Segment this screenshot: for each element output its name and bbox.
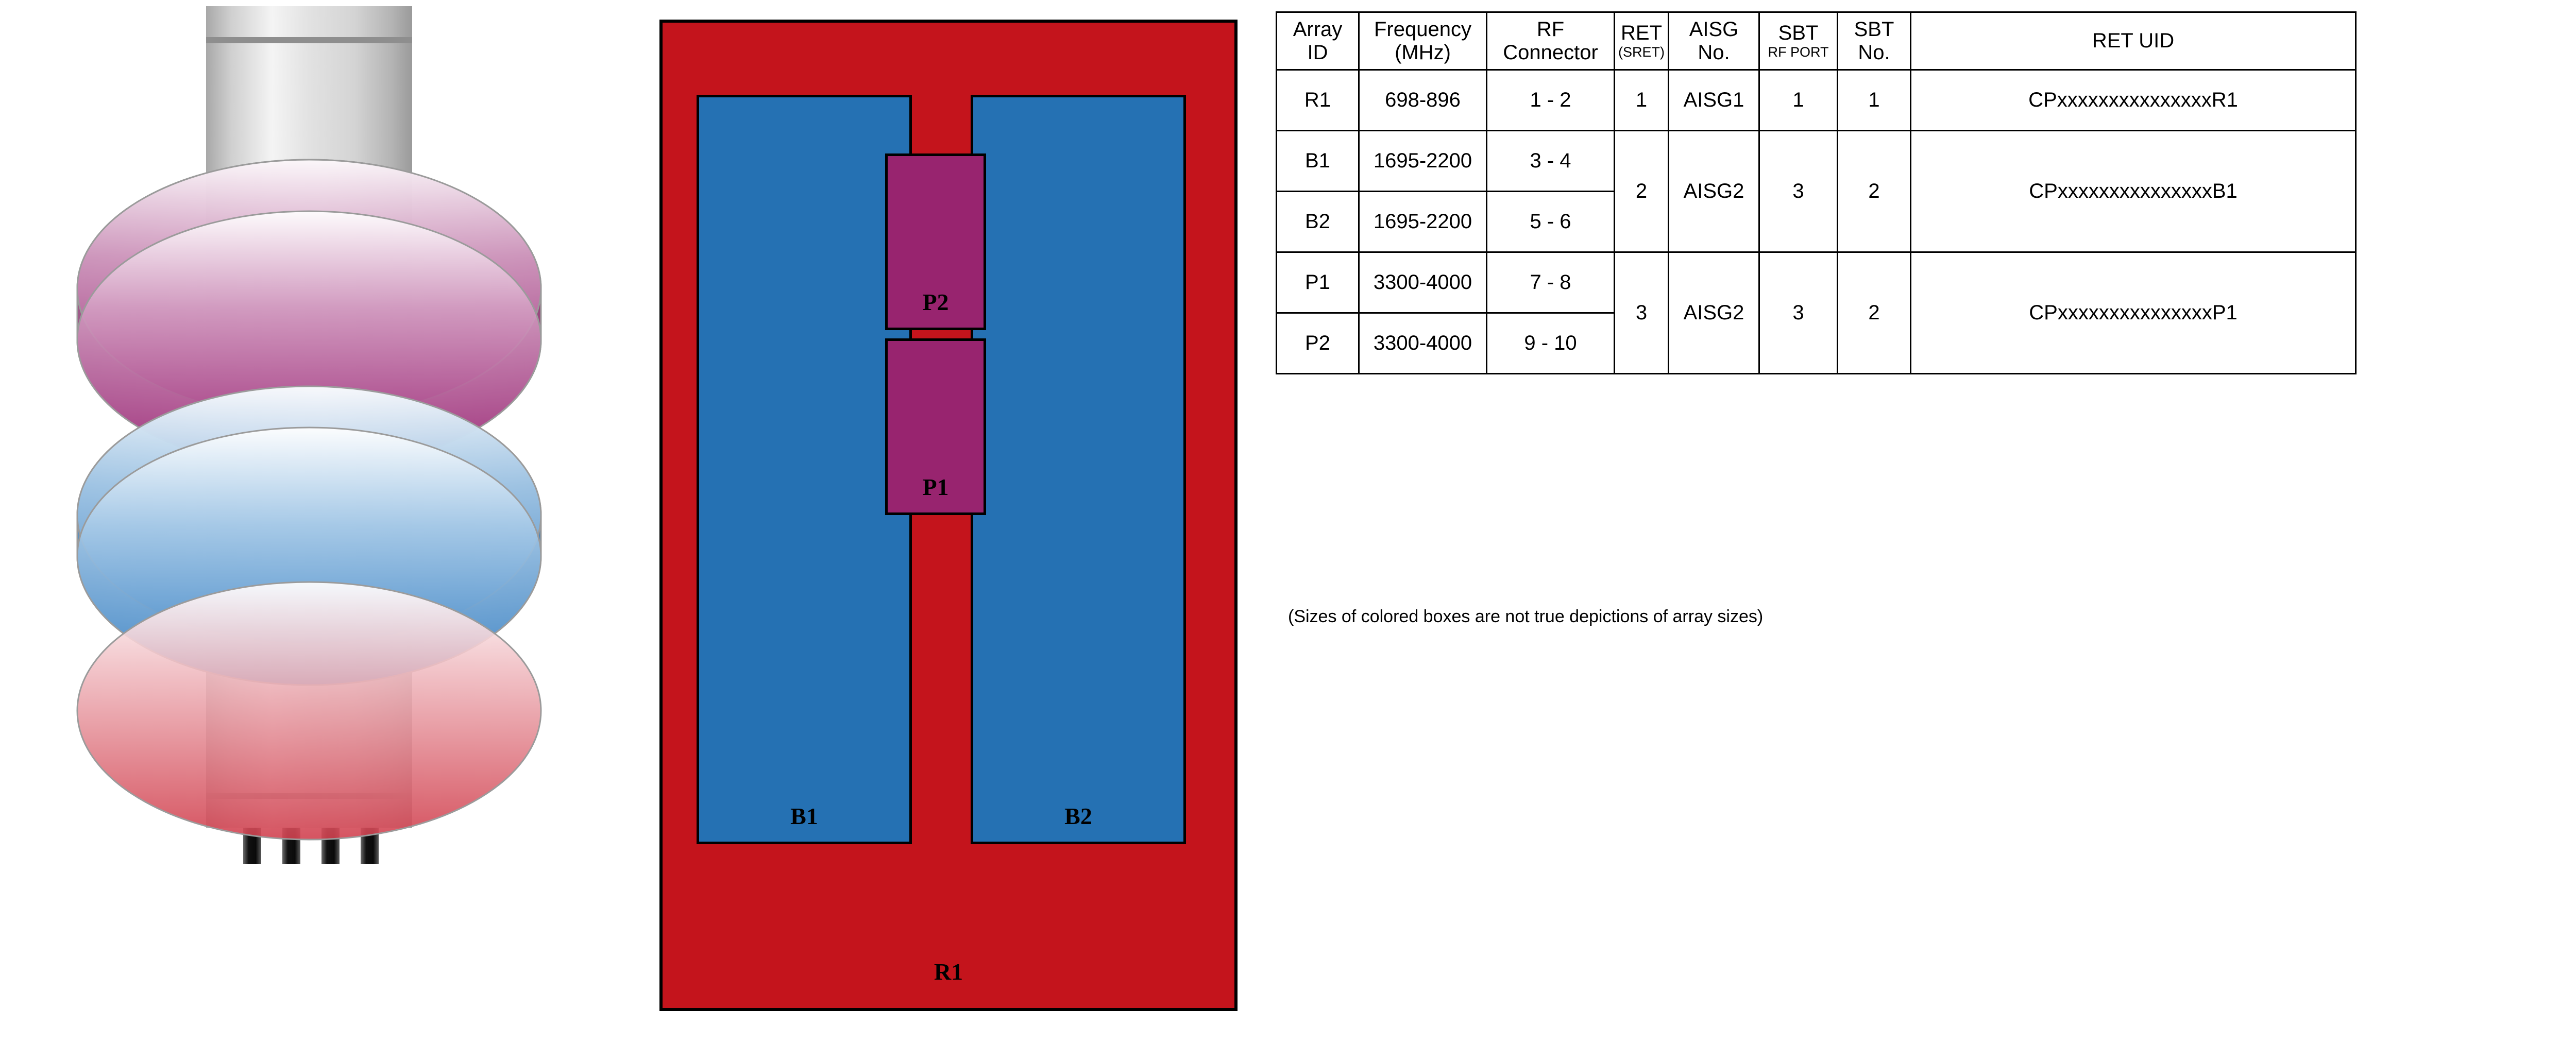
column-header-rf-connector-line1: RF bbox=[1490, 18, 1611, 41]
column-header-rf-connector: RF Connector bbox=[1487, 12, 1615, 70]
cell-sbt-no: 1 bbox=[1838, 70, 1911, 131]
column-header-sbt-rf-port: SBT RF PORT bbox=[1759, 12, 1838, 70]
array-box-label-p2: P2 bbox=[922, 290, 948, 328]
array-box-b1: B1 bbox=[697, 95, 912, 844]
cell-sbt-rf-port: 3 bbox=[1759, 252, 1838, 374]
cell-ret-uid: CPxxxxxxxxxxxxxxxR1 bbox=[1911, 70, 2356, 131]
array-box-label-b1: B1 bbox=[790, 805, 818, 842]
column-header-sbt-port-line1: SBT bbox=[1763, 22, 1834, 45]
cell-sbt-no: 2 bbox=[1838, 252, 1911, 374]
cell-rf-connector: 5 - 6 bbox=[1487, 192, 1615, 252]
array-layout-diagram: B1 B2 P2 P1 R1 bbox=[659, 20, 1238, 1011]
column-header-frequency-line1: Frequency bbox=[1363, 18, 1483, 41]
column-header-sbt-port-line2: RF PORT bbox=[1763, 44, 1834, 60]
column-header-sbt-no: SBT No. bbox=[1838, 12, 1911, 70]
cell-rf-connector: 1 - 2 bbox=[1487, 70, 1615, 131]
column-header-array-id: Array ID bbox=[1277, 12, 1359, 70]
column-header-ret: RET (SRET) bbox=[1615, 12, 1669, 70]
table-header-row: Array ID Frequency (MHz) RF Connector RE… bbox=[1277, 12, 2356, 70]
column-header-aisg-line2: No. bbox=[1672, 41, 1755, 64]
array-box-label-b2: B2 bbox=[1064, 805, 1092, 842]
cell-array-id: B2 bbox=[1277, 192, 1359, 252]
column-header-ret-uid-text: RET UID bbox=[1914, 29, 2352, 53]
column-header-array-id-text: Array ID bbox=[1280, 18, 1355, 64]
cell-ret-uid: CPxxxxxxxxxxxxxxxB1 bbox=[1911, 131, 2356, 252]
array-config-table: Array ID Frequency (MHz) RF Connector RE… bbox=[1276, 11, 2357, 374]
array-box-p1: P1 bbox=[885, 338, 986, 515]
cell-sbt-no: 2 bbox=[1838, 131, 1911, 252]
cell-rf-connector: 9 - 10 bbox=[1487, 313, 1615, 374]
table-row: P1 3300-4000 7 - 8 3 AISG2 3 2 CPxxxxxxx… bbox=[1277, 252, 2356, 313]
column-header-frequency: Frequency (MHz) bbox=[1359, 12, 1487, 70]
cell-array-id: P2 bbox=[1277, 313, 1359, 374]
cell-array-id: B1 bbox=[1277, 131, 1359, 192]
low-band-lobe bbox=[77, 582, 541, 840]
cell-array-id: P1 bbox=[1277, 252, 1359, 313]
cell-frequency: 698-896 bbox=[1359, 70, 1487, 131]
cell-frequency: 1695-2200 bbox=[1359, 131, 1487, 192]
antenna-illustration bbox=[0, 0, 639, 1040]
cell-aisg-no: AISG1 bbox=[1669, 70, 1759, 131]
cell-rf-connector: 7 - 8 bbox=[1487, 252, 1615, 313]
cell-sbt-rf-port: 1 bbox=[1759, 70, 1838, 131]
column-header-ret-line2: (SRET) bbox=[1618, 44, 1665, 60]
column-header-aisg-no: AISG No. bbox=[1669, 12, 1759, 70]
cell-frequency: 1695-2200 bbox=[1359, 192, 1487, 252]
cell-frequency: 3300-4000 bbox=[1359, 252, 1487, 313]
antenna-illustration-svg bbox=[0, 0, 639, 1040]
cell-ret: 3 bbox=[1615, 252, 1669, 374]
table-row: R1 698-896 1 - 2 1 AISG1 1 1 CPxxxxxxxxx… bbox=[1277, 70, 2356, 131]
cell-aisg-no: AISG2 bbox=[1669, 252, 1759, 374]
cell-array-id: R1 bbox=[1277, 70, 1359, 131]
table-row: B1 1695-2200 3 - 4 2 AISG2 3 2 CPxxxxxxx… bbox=[1277, 131, 2356, 192]
cell-rf-connector: 3 - 4 bbox=[1487, 131, 1615, 192]
column-header-ret-uid: RET UID bbox=[1911, 12, 2356, 70]
column-header-sbt-no-line2: No. bbox=[1841, 41, 1907, 64]
array-box-b2: B2 bbox=[971, 95, 1186, 844]
cell-ret-uid: CPxxxxxxxxxxxxxxxP1 bbox=[1911, 252, 2356, 374]
table-footnote: (Sizes of colored boxes are not true dep… bbox=[1288, 607, 1763, 627]
column-header-frequency-line2: (MHz) bbox=[1363, 41, 1483, 64]
array-box-label-p1: P1 bbox=[922, 475, 948, 512]
array-box-label-r1: R1 bbox=[663, 958, 1234, 985]
column-header-ret-line1: RET bbox=[1618, 22, 1665, 45]
cell-ret: 1 bbox=[1615, 70, 1669, 131]
column-header-sbt-no-line1: SBT bbox=[1841, 18, 1907, 41]
cell-sbt-rf-port: 3 bbox=[1759, 131, 1838, 252]
cell-frequency: 3300-4000 bbox=[1359, 313, 1487, 374]
column-header-rf-connector-line2: Connector bbox=[1490, 41, 1611, 64]
array-box-p2: P2 bbox=[885, 153, 986, 330]
cell-aisg-no: AISG2 bbox=[1669, 131, 1759, 252]
column-header-aisg-line1: AISG bbox=[1672, 18, 1755, 41]
cell-ret: 2 bbox=[1615, 131, 1669, 252]
